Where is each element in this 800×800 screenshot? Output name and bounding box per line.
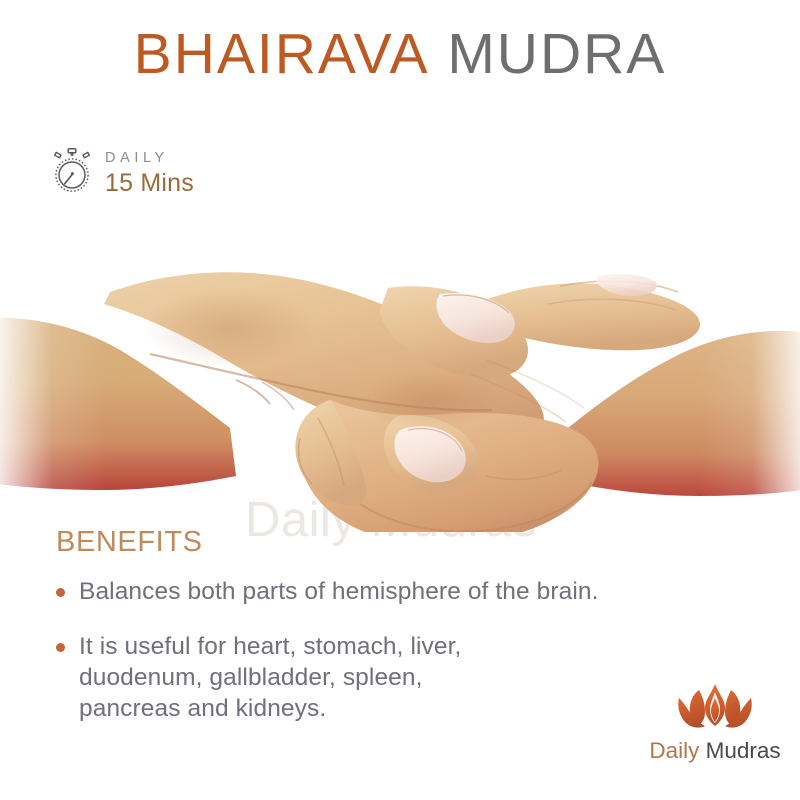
title-secondary-word: MUDRA [447,22,666,86]
mudra-infographic-poster: BHAIRAVA MUDRA DAILY 15 [0,0,800,800]
lotus-icon [645,682,785,735]
brand-name-first: Daily [649,738,699,763]
list-item: It is useful for heart, stomach, liver, … [56,632,676,725]
bullet-dot-icon [56,643,65,652]
bullet-dot-icon [56,588,65,597]
list-item: Balances both parts of hemisphere of the… [56,577,676,608]
benefit-text: It is useful for heart, stomach, liver, … [79,632,461,725]
mudra-hands-photo [0,232,800,532]
benefits-section: BENEFITS Balances both parts of hemisphe… [56,528,676,748]
duration-text: DAILY 15 Mins [105,151,194,196]
duration-value-label: 15 Mins [105,171,194,196]
benefit-text: Balances both parts of hemisphere of the… [79,577,599,608]
title-primary-word: BHAIRAVA [134,22,430,86]
benefits-heading: BENEFITS [56,528,676,557]
duration-badge: DAILY 15 Mins [52,148,194,199]
brand-name: Daily Mudras [645,740,785,763]
title-spacer [429,22,447,86]
brand-logo: Daily Mudras [645,682,785,763]
duration-frequency-label: DAILY [105,151,194,166]
stopwatch-icon [52,148,92,199]
page-title: BHAIRAVA MUDRA [0,26,800,83]
brand-name-second: Mudras [706,738,781,763]
